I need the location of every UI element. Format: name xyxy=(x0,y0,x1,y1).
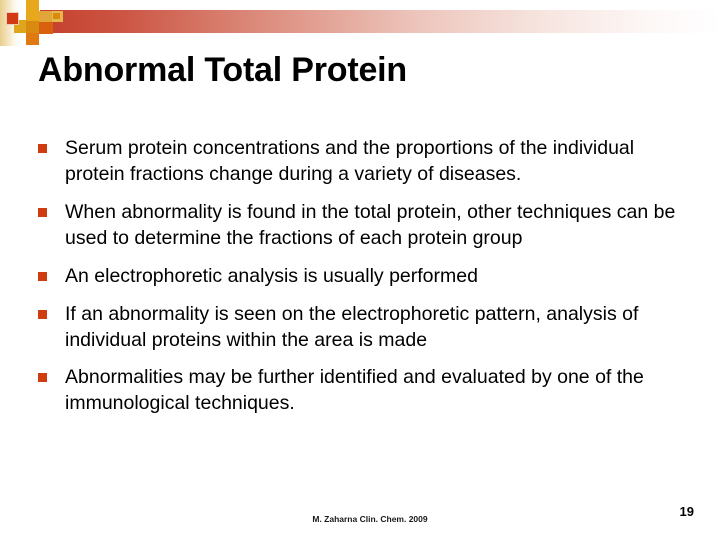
list-item-text: An electrophoretic analysis is usually p… xyxy=(65,264,688,290)
list-item: An electrophoretic analysis is usually p… xyxy=(38,264,688,290)
deco-square-red xyxy=(6,12,19,25)
slide-canvas: Abnormal Total Protein Serum protein con… xyxy=(0,0,720,540)
page-title: Abnormal Total Protein xyxy=(38,50,688,90)
list-item-text: Serum protein concentrations and the pro… xyxy=(65,136,688,188)
square-bullet-icon xyxy=(38,272,47,281)
list-item-text: If an abnormality is seen on the electro… xyxy=(65,302,688,354)
square-bullet-icon xyxy=(38,310,47,319)
list-item-text: Abnormalities may be further identified … xyxy=(65,365,688,417)
slide-header-decoration xyxy=(0,0,720,46)
list-item: When abnormality is found in the total p… xyxy=(38,200,688,252)
deco-square-amber-dot xyxy=(53,13,60,19)
square-bullet-icon xyxy=(38,208,47,217)
square-bullet-icon xyxy=(38,144,47,153)
square-bullet-icon xyxy=(38,373,47,382)
list-item-text: When abnormality is found in the total p… xyxy=(65,200,688,252)
footer-attribution: M. Zaharna Clin. Chem. 2009 xyxy=(0,514,720,524)
bullet-list: Serum protein concentrations and the pro… xyxy=(38,136,688,429)
page-number: 19 xyxy=(680,504,694,519)
list-item: If an abnormality is seen on the electro… xyxy=(38,302,688,354)
deco-square-orange-b xyxy=(39,22,53,34)
deco-square-gold-tall xyxy=(26,0,39,22)
list-item: Serum protein concentrations and the pro… xyxy=(38,136,688,188)
deco-square-orange-a xyxy=(26,33,39,45)
list-item: Abnormalities may be further identified … xyxy=(38,365,688,417)
deco-square-tan-a xyxy=(39,11,52,22)
header-gradient-bar xyxy=(40,10,720,33)
